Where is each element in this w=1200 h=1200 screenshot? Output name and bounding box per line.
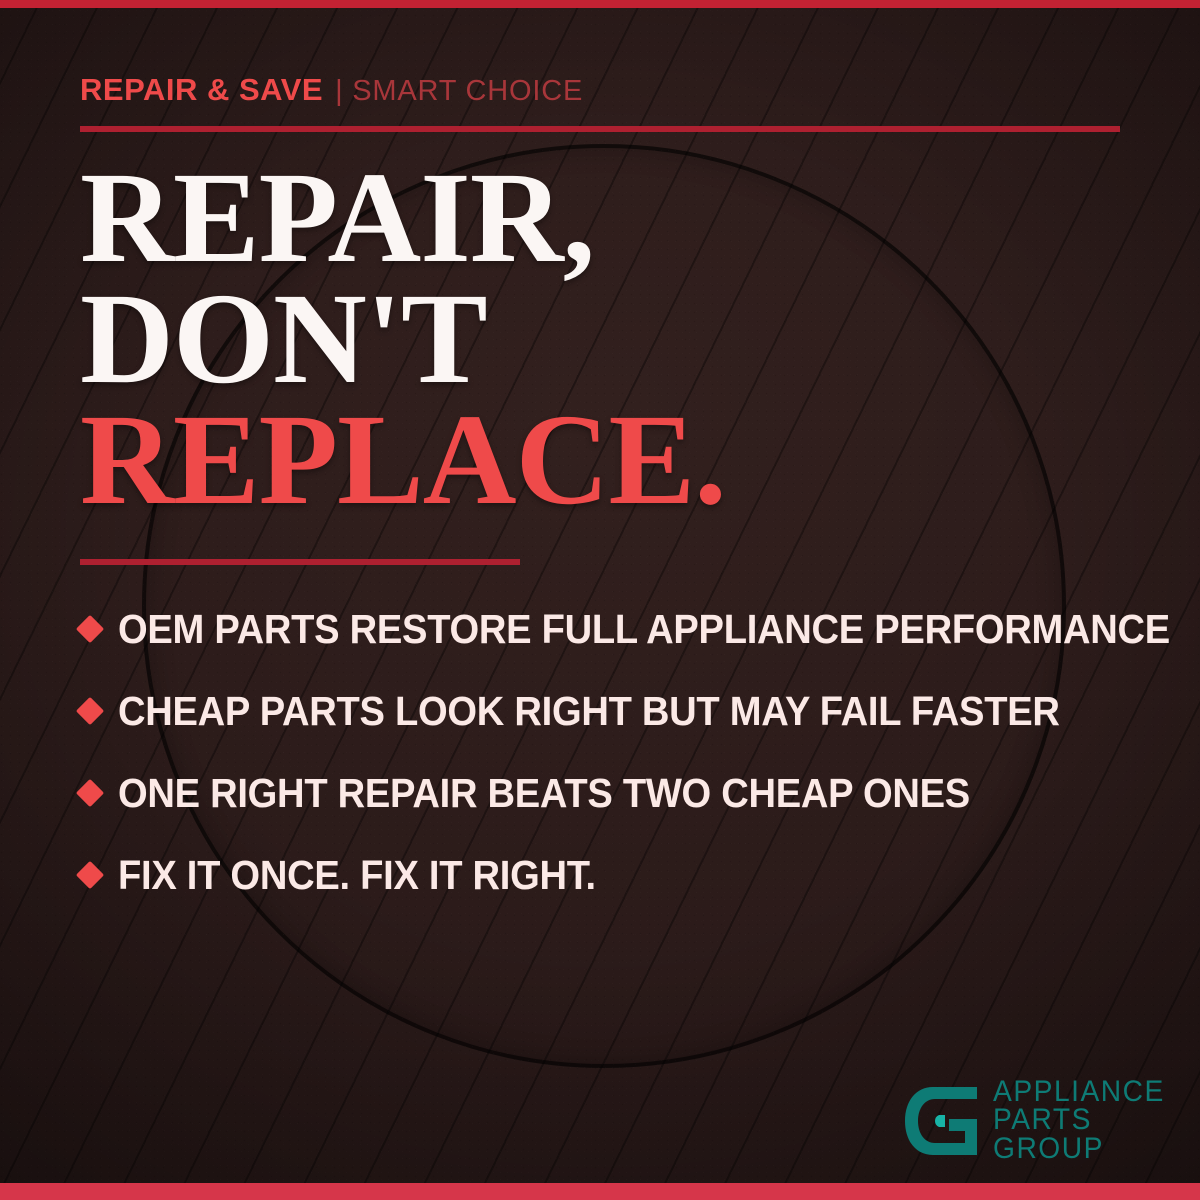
headline-line-3: REPLACE. bbox=[80, 400, 1140, 521]
list-item: CHEAP PARTS LOOK RIGHT BUT MAY FAIL FAST… bbox=[80, 670, 1150, 752]
bullet-label: OEM PARTS RESTORE FULL APPLIANCE PERFORM… bbox=[118, 606, 1170, 653]
headline-line-2: DON'T bbox=[80, 279, 1140, 400]
diamond-icon bbox=[76, 779, 104, 807]
bullet-list: OEM PARTS RESTORE FULL APPLIANCE PERFORM… bbox=[80, 588, 1150, 916]
g-monogram-icon bbox=[903, 1085, 979, 1157]
brand-logo-text: APPLIANCE PARTS GROUP bbox=[993, 1078, 1176, 1164]
bottom-accent-bar bbox=[0, 1183, 1200, 1200]
eyebrow: REPAIR & SAVE | SMART CHOICE bbox=[80, 72, 583, 108]
top-accent-bar bbox=[0, 0, 1200, 8]
brand-word-1: APPLIANCE bbox=[993, 1078, 1165, 1107]
bullet-label: ONE RIGHT REPAIR BEATS TWO CHEAP ONES bbox=[118, 770, 970, 817]
diamond-icon bbox=[76, 615, 104, 643]
bullet-label: CHEAP PARTS LOOK RIGHT BUT MAY FAIL FAST… bbox=[118, 688, 1060, 735]
list-item: FIX IT ONCE. FIX IT RIGHT. bbox=[80, 834, 1150, 916]
headline-block: REPAIR, DON'T REPLACE. bbox=[80, 158, 1140, 521]
eyebrow-main-label: REPAIR & SAVE bbox=[80, 72, 323, 108]
list-item: ONE RIGHT REPAIR BEATS TWO CHEAP ONES bbox=[80, 752, 1150, 834]
poster-canvas: REPAIR & SAVE | SMART CHOICE REPAIR, DON… bbox=[0, 0, 1200, 1200]
list-item: OEM PARTS RESTORE FULL APPLIANCE PERFORM… bbox=[80, 588, 1150, 670]
eyebrow-sub-label: | SMART CHOICE bbox=[335, 75, 583, 108]
headline-line-1: REPAIR, bbox=[80, 158, 1140, 279]
brand-logo: APPLIANCE PARTS GROUP bbox=[903, 1078, 1176, 1164]
brand-word-2: PARTS bbox=[993, 1106, 1165, 1135]
bullets-divider-rule bbox=[80, 559, 520, 565]
diamond-icon bbox=[76, 861, 104, 889]
brand-word-3: GROUP bbox=[993, 1135, 1165, 1164]
header-divider-rule bbox=[80, 126, 1120, 132]
bullet-label: FIX IT ONCE. FIX IT RIGHT. bbox=[118, 852, 596, 899]
diamond-icon bbox=[76, 697, 104, 725]
